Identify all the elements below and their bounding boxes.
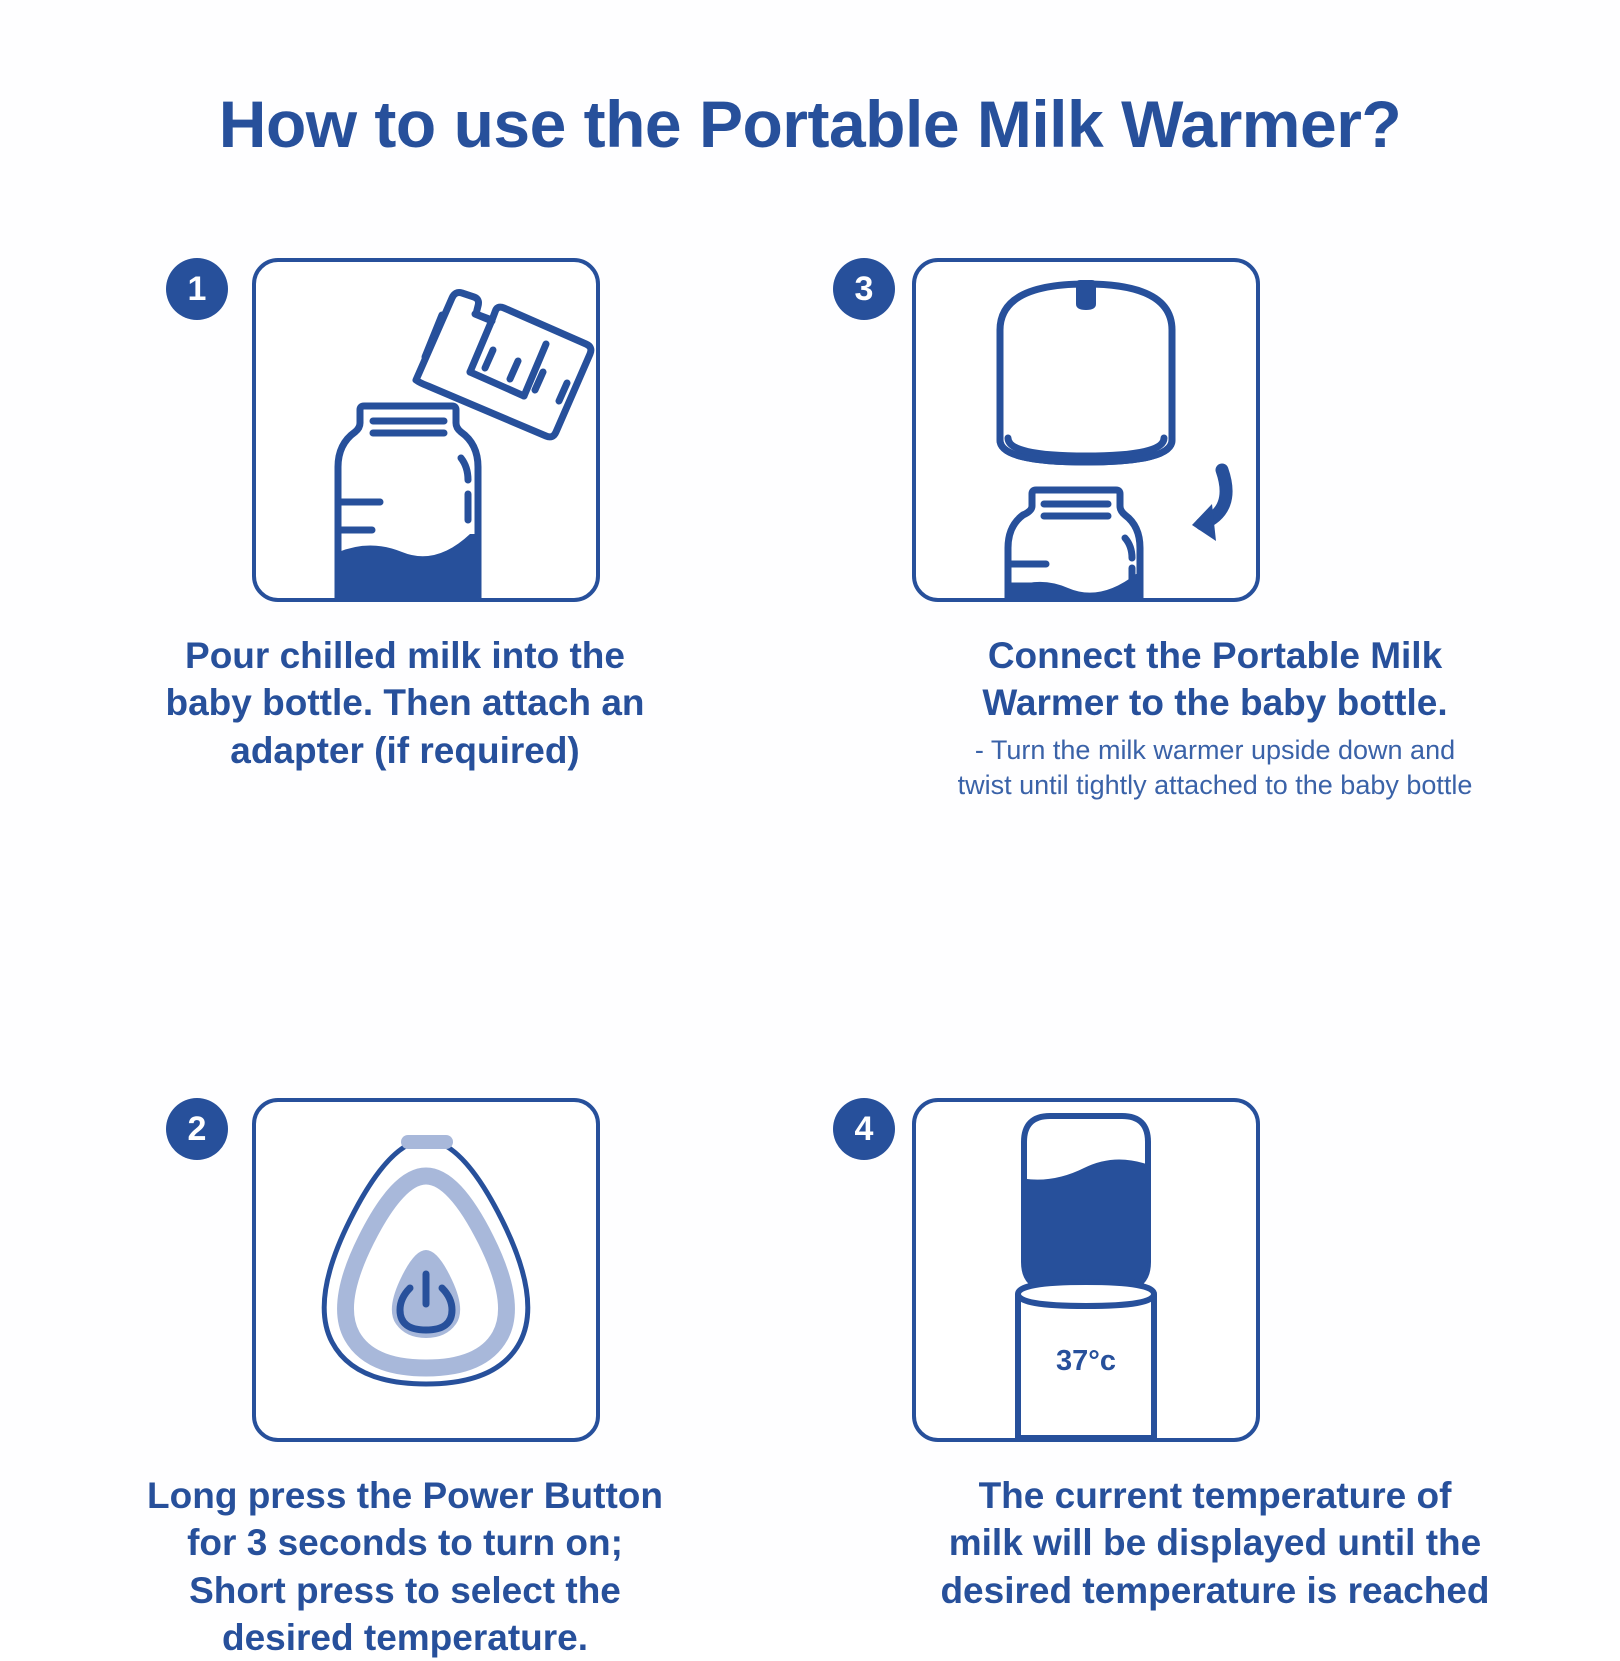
caption-line: Short press to select the	[70, 1567, 740, 1614]
step-4-illustration-area: 4	[810, 1090, 1620, 1442]
caption-line: Connect the Portable Milk	[880, 632, 1550, 679]
subcaption-line: - Turn the milk warmer upside down and	[870, 733, 1560, 769]
caption-line: Warmer to the baby bottle.	[880, 679, 1550, 726]
caption-line: adapter (if required)	[70, 727, 740, 774]
caption-line: baby bottle. Then attach an	[70, 679, 740, 726]
caption-line: The current temperature of	[880, 1472, 1550, 1519]
steps-grid: 1	[0, 250, 1620, 1661]
step-4-panel: 37°c	[912, 1098, 1260, 1442]
step-3-caption: Connect the Portable Milk Warmer to the …	[810, 632, 1620, 727]
step-number-badge-1: 1	[166, 258, 228, 320]
caption-line: for 3 seconds to turn on;	[70, 1519, 740, 1566]
power-button-icon	[256, 1102, 596, 1438]
subcaption-line: twist until tightly attached to the baby…	[870, 768, 1560, 804]
step-row-bottom: 2	[0, 1090, 1620, 1661]
infographic-page: How to use the Portable Milk Warmer? 1	[0, 0, 1620, 1620]
warmer-with-temperature-display-icon: 37°c	[916, 1102, 1256, 1438]
step-3-subcaption: - Turn the milk warmer upside down and t…	[810, 733, 1620, 804]
step-2-illustration-area: 2	[0, 1090, 810, 1442]
caption-line: milk will be displayed until the	[880, 1519, 1550, 1566]
step-2-caption: Long press the Power Button for 3 second…	[0, 1472, 810, 1661]
page-title: How to use the Portable Milk Warmer?	[0, 86, 1620, 162]
step-card-1: 1	[0, 250, 810, 804]
caption-line: Pour chilled milk into the	[70, 632, 740, 679]
step-1-caption: Pour chilled milk into the baby bottle. …	[0, 632, 810, 774]
milk-warmer-attaching-to-bottle-icon	[916, 262, 1256, 598]
caption-line: Long press the Power Button	[70, 1472, 740, 1519]
caption-line: desired temperature.	[70, 1614, 740, 1661]
step-3-panel	[912, 258, 1260, 602]
milk-carton-pouring-into-baby-bottle-icon	[256, 262, 596, 598]
temperature-display: 37°c	[1056, 1345, 1116, 1377]
step-1-illustration-area: 1	[0, 250, 810, 602]
step-4-caption: The current temperature of milk will be …	[810, 1472, 1620, 1614]
step-row-top: 1	[0, 250, 1620, 804]
step-card-4: 4	[810, 1090, 1620, 1661]
step-card-3: 3	[810, 250, 1620, 804]
step-card-2: 2	[0, 1090, 810, 1661]
step-number-badge-2: 2	[166, 1098, 228, 1160]
step-2-panel	[252, 1098, 600, 1442]
step-number-badge-3: 3	[833, 258, 895, 320]
step-3-illustration-area: 3	[810, 250, 1620, 602]
step-number-badge-4: 4	[833, 1098, 895, 1160]
caption-line: desired temperature is reached	[880, 1567, 1550, 1614]
step-1-panel	[252, 258, 600, 602]
